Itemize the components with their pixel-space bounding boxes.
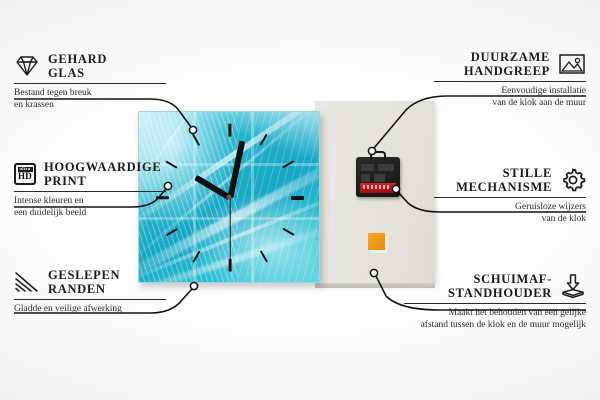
mechanism-detail	[374, 174, 385, 182]
mechanism-detail	[378, 164, 394, 171]
glass-reflection-line	[139, 163, 319, 166]
feature-title: GEHARD GLAS	[48, 52, 107, 80]
clock-mechanism	[356, 157, 400, 197]
feature-duurzame-handgreep[interactable]: DUURZAME HANDGREEP Eenvoudige installati…	[434, 50, 586, 109]
mechanism-detail	[361, 174, 370, 182]
feature-header: ultra HD HOOGWAARDIGE PRINT	[14, 160, 166, 188]
diamond-icon	[14, 54, 40, 78]
feature-description: Bestand tegen breuk en krassen	[14, 84, 166, 111]
feature-gehard-glas[interactable]: GEHARD GLAS Bestand tegen breuk en krass…	[14, 52, 166, 111]
feature-title: HOOGWAARDIGE PRINT	[44, 160, 161, 188]
feature-description: Maakt het behouden van een gelijke afsta…	[404, 304, 586, 331]
feature-description: Geruisloze wijzers van de klok	[434, 198, 586, 225]
infographic-canvas: GEHARD GLAS Bestand tegen breuk en krass…	[0, 0, 600, 400]
picture-frame-icon	[558, 52, 586, 76]
feature-title: GESLEPEN RANDEN	[48, 268, 120, 296]
feature-header: GEHARD GLAS	[14, 52, 166, 80]
feature-title: DUURZAME HANDGREEP	[464, 50, 550, 78]
hd-label: HD	[18, 172, 32, 181]
feature-header: GESLEPEN RANDEN	[14, 268, 166, 296]
feature-schuimaf-standhouder[interactable]: SCHUIMAF- STANDHOUDER Maakt het behouden…	[404, 272, 586, 331]
gear-icon	[560, 167, 586, 193]
clock-center-pin	[227, 195, 232, 200]
hour-marker	[228, 124, 231, 137]
foam-spacer-pad	[368, 233, 385, 250]
feature-title: SCHUIMAF- STANDHOUDER	[448, 272, 552, 300]
feature-stille-mechanisme[interactable]: STILLE MECHANISME Geruisloze wijzers van…	[434, 166, 586, 225]
mechanism-detail	[361, 164, 374, 171]
beveled-edges-icon	[14, 270, 40, 294]
feature-geslepen-randen[interactable]: GESLEPEN RANDEN Gladde en veilige afwerk…	[14, 268, 166, 316]
down-arrow-platform-icon	[560, 273, 586, 299]
glass-reflection-line	[251, 112, 254, 282]
feature-description: Gladde en veilige afwerking	[14, 300, 166, 316]
hanging-hook-icon	[370, 151, 386, 160]
feature-description: Eenvoudige installatie van de klok aan d…	[434, 82, 586, 109]
feature-header: DUURZAME HANDGREEP	[434, 50, 586, 78]
feature-header: STILLE MECHANISME	[434, 166, 586, 194]
feature-description: Intense kleuren en een duidelijk beeld	[14, 192, 166, 219]
product-photo	[130, 95, 435, 295]
clock-second-hand	[229, 198, 230, 264]
aa-battery	[360, 183, 396, 193]
ultra-hd-badge-icon: ultra HD	[14, 163, 36, 185]
battery-label	[363, 185, 390, 189]
hour-marker	[291, 196, 304, 199]
feature-hoogwaardige-print[interactable]: ultra HD HOOGWAARDIGE PRINT Intense kleu…	[14, 160, 166, 219]
feature-header: SCHUIMAF- STANDHOUDER	[404, 272, 586, 300]
feature-title: STILLE MECHANISME	[456, 166, 552, 194]
